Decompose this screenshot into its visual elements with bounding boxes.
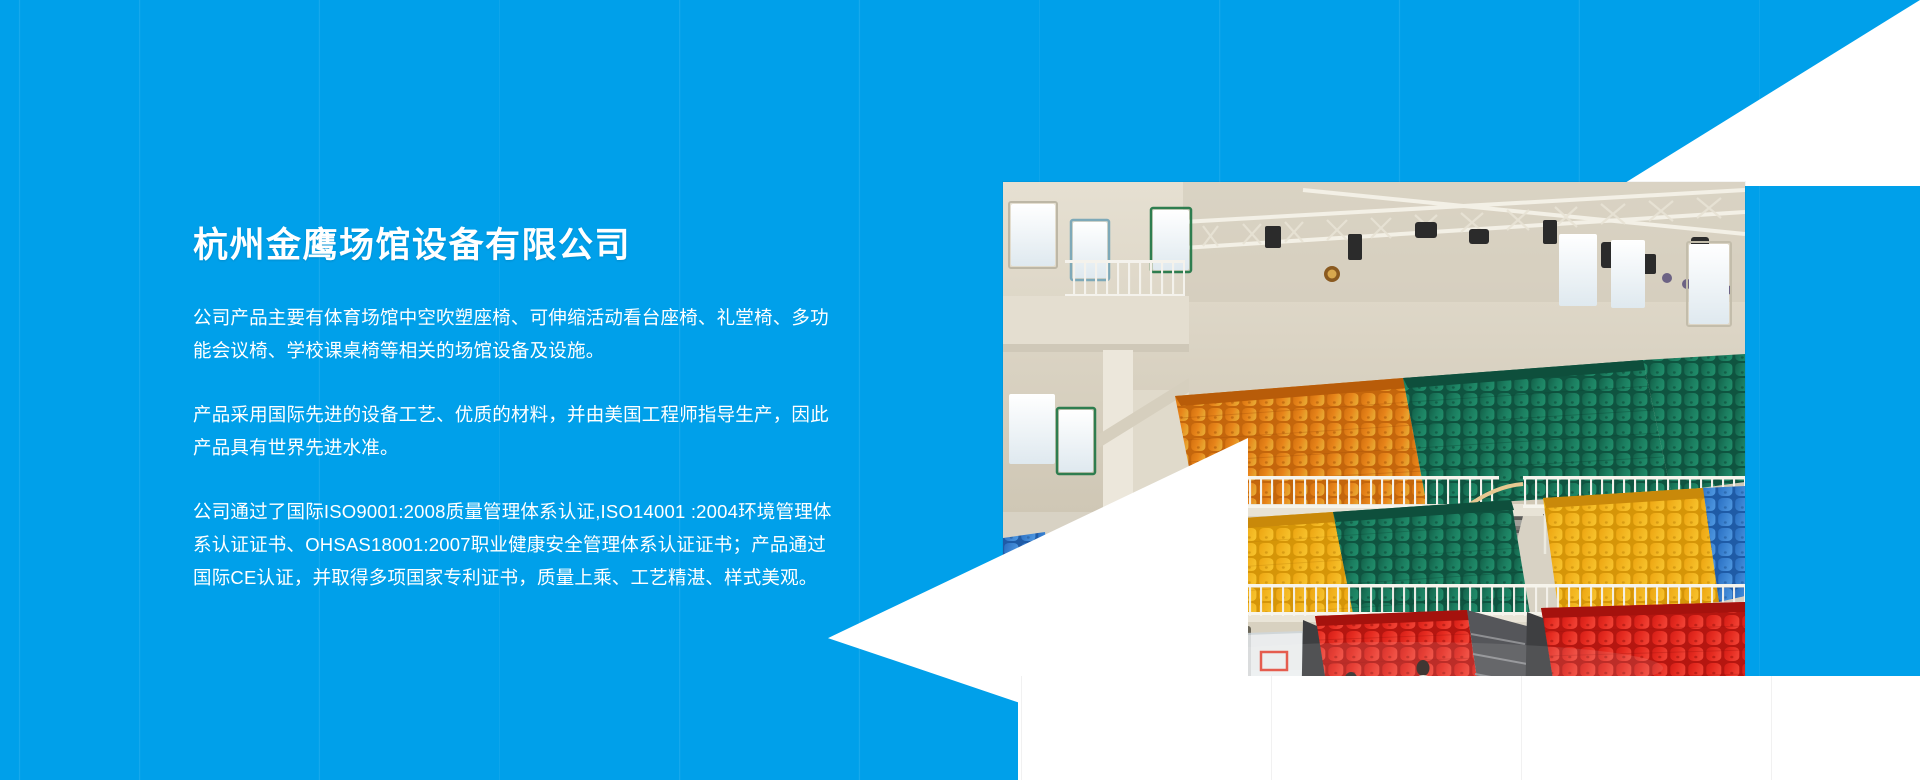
bottom-white-panel (1018, 676, 1920, 780)
bottom-panel-dividers (1018, 676, 1920, 780)
page-title: 杭州金鹰场馆设备有限公司 (193, 225, 833, 267)
hero-paragraph-certifications: 公司通过了国际ISO9001:2008质量管理体系认证,ISO14001 :20… (193, 495, 833, 594)
hero-paragraph-products: 公司产品主要有体育场馆中空吹塑座椅、可伸缩活动看台座椅、礼堂椅、多功能会议椅、学… (193, 301, 833, 367)
hero-banner: SL 金鹰体育 WWW.JINYING-SPORTS.COM (0, 0, 1920, 780)
hero-text-column: 杭州金鹰场馆设备有限公司 公司产品主要有体育场馆中空吹塑座椅、可伸缩活动看台座椅… (193, 225, 833, 594)
hero-paragraph-quality: 产品采用国际先进的设备工艺、优质的材料，并由美国工程师指导生产，因此产品具有世界… (193, 398, 833, 464)
